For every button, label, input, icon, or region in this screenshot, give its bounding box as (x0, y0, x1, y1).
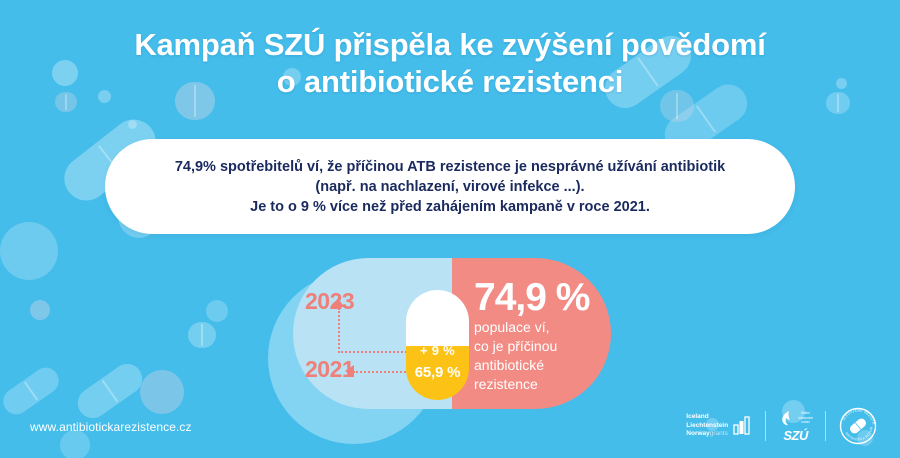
decor-bubble (140, 370, 184, 414)
szu-tagline-3: ústav (798, 420, 813, 424)
page-title: Kampaň SZÚ přispěla ke zvýšení povědomí … (0, 26, 900, 100)
szu-tagline: Státní zdravotní ústav (798, 411, 813, 424)
eea-line-1: Iceland (686, 413, 728, 422)
capsule-base-label: 65,9 % (406, 361, 469, 385)
headline-desc-2: co je příčinou (474, 337, 624, 356)
callout-box: 74,9% spotřebitelů ví, že příčinou ATB r… (105, 139, 795, 234)
capsule-top-white (406, 290, 469, 346)
eea-line-3: Norway (686, 430, 709, 437)
headline-desc-3: antibiotické (474, 356, 624, 375)
capsule-delta-label: + 9 % (406, 341, 469, 360)
title-line-2: o antibiotické rezistenci (0, 63, 900, 100)
szu-name: SZÚ (783, 428, 808, 443)
callout-line-2: (např. na nachlazení, virové infekce ...… (315, 177, 584, 197)
szu-mark-row: Státní zdravotní ústav (778, 410, 813, 427)
footer-logos: Iceland Liechtenstein Norwaygrants Státn… (686, 404, 878, 448)
chart-headline-block: 74,9 % populace ví, co je příčinou antib… (474, 278, 624, 394)
year-label-2023: 2023 (305, 290, 354, 313)
logo-divider-1 (765, 411, 766, 441)
website-url[interactable]: www.antibiotickarezistence.cz (30, 420, 192, 434)
eea-norway-grants-logo: Iceland Liechtenstein Norwaygrants (686, 413, 753, 439)
headline-percentage: 74,9 % (474, 278, 624, 318)
decor-big-circle (0, 222, 58, 280)
eea-logo-text: Iceland Liechtenstein Norwaygrants (686, 413, 728, 439)
eea-grants-word: grants (710, 430, 728, 437)
eea-line-2: Liechtenstein (686, 422, 728, 431)
arrow-left-icon (345, 365, 354, 377)
decor-bubble (60, 430, 90, 458)
callout-line-3: Je to o 9 % více než před zahájením kamp… (250, 197, 650, 217)
antibiotic-resistance-badge-logo: SLEDUJEME REZISTENCI ANTIBIOTIKA ROZUMNE (838, 406, 878, 446)
headline-desc-4: rezistence (474, 375, 624, 394)
decor-bubble (30, 300, 50, 320)
decor-pill (0, 363, 64, 420)
decor-bubble (206, 300, 228, 322)
title-line-1: Kampaň SZÚ přispěla ke zvýšení povědomí (0, 26, 900, 63)
eea-bars-icon (733, 416, 753, 436)
decor-pill (72, 358, 148, 424)
callout-line-1: 74,9% spotřebitelů ví, že příčinou ATB r… (175, 157, 725, 177)
headline-desc-1: populace ví, (474, 318, 624, 337)
infographic-canvas: Kampaň SZÚ přispěla ke zvýšení povědomí … (0, 0, 900, 458)
capsule-badge-icon: SLEDUJEME REZISTENCI ANTIBIOTIKA ROZUMNE (838, 406, 878, 446)
szu-logo: Státní zdravotní ústav SZÚ (778, 410, 813, 443)
decor-tablet (188, 322, 216, 348)
arrow-up-icon (332, 298, 344, 307)
connector-vertical (338, 308, 340, 353)
logo-divider-2 (825, 411, 826, 441)
szu-flame-icon (778, 410, 795, 427)
decor-bubble (128, 120, 137, 129)
